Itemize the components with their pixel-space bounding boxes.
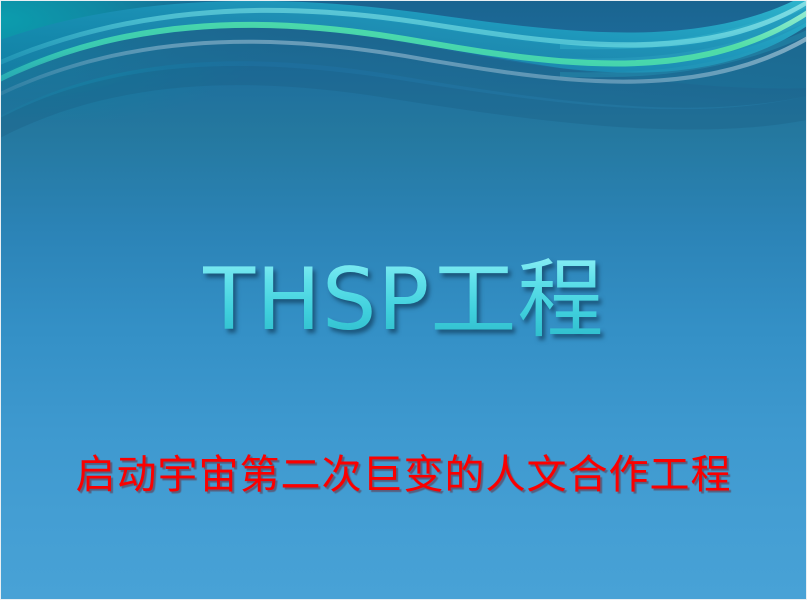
title-wrap: THSP工程 — [203, 252, 605, 348]
page-subtitle: 启动宇宙第二次巨变的人文合作工程 — [76, 452, 732, 498]
presentation-slide: THSP工程 启动宇宙第二次巨变的人文合作工程 — [0, 0, 807, 600]
corner-teal-wash — [0, 0, 330, 120]
page-title: THSP工程 — [203, 252, 605, 348]
slide-subtitle-container: 启动宇宙第二次巨变的人文合作工程 — [0, 452, 807, 498]
slide-title-container: THSP工程 — [0, 252, 807, 348]
